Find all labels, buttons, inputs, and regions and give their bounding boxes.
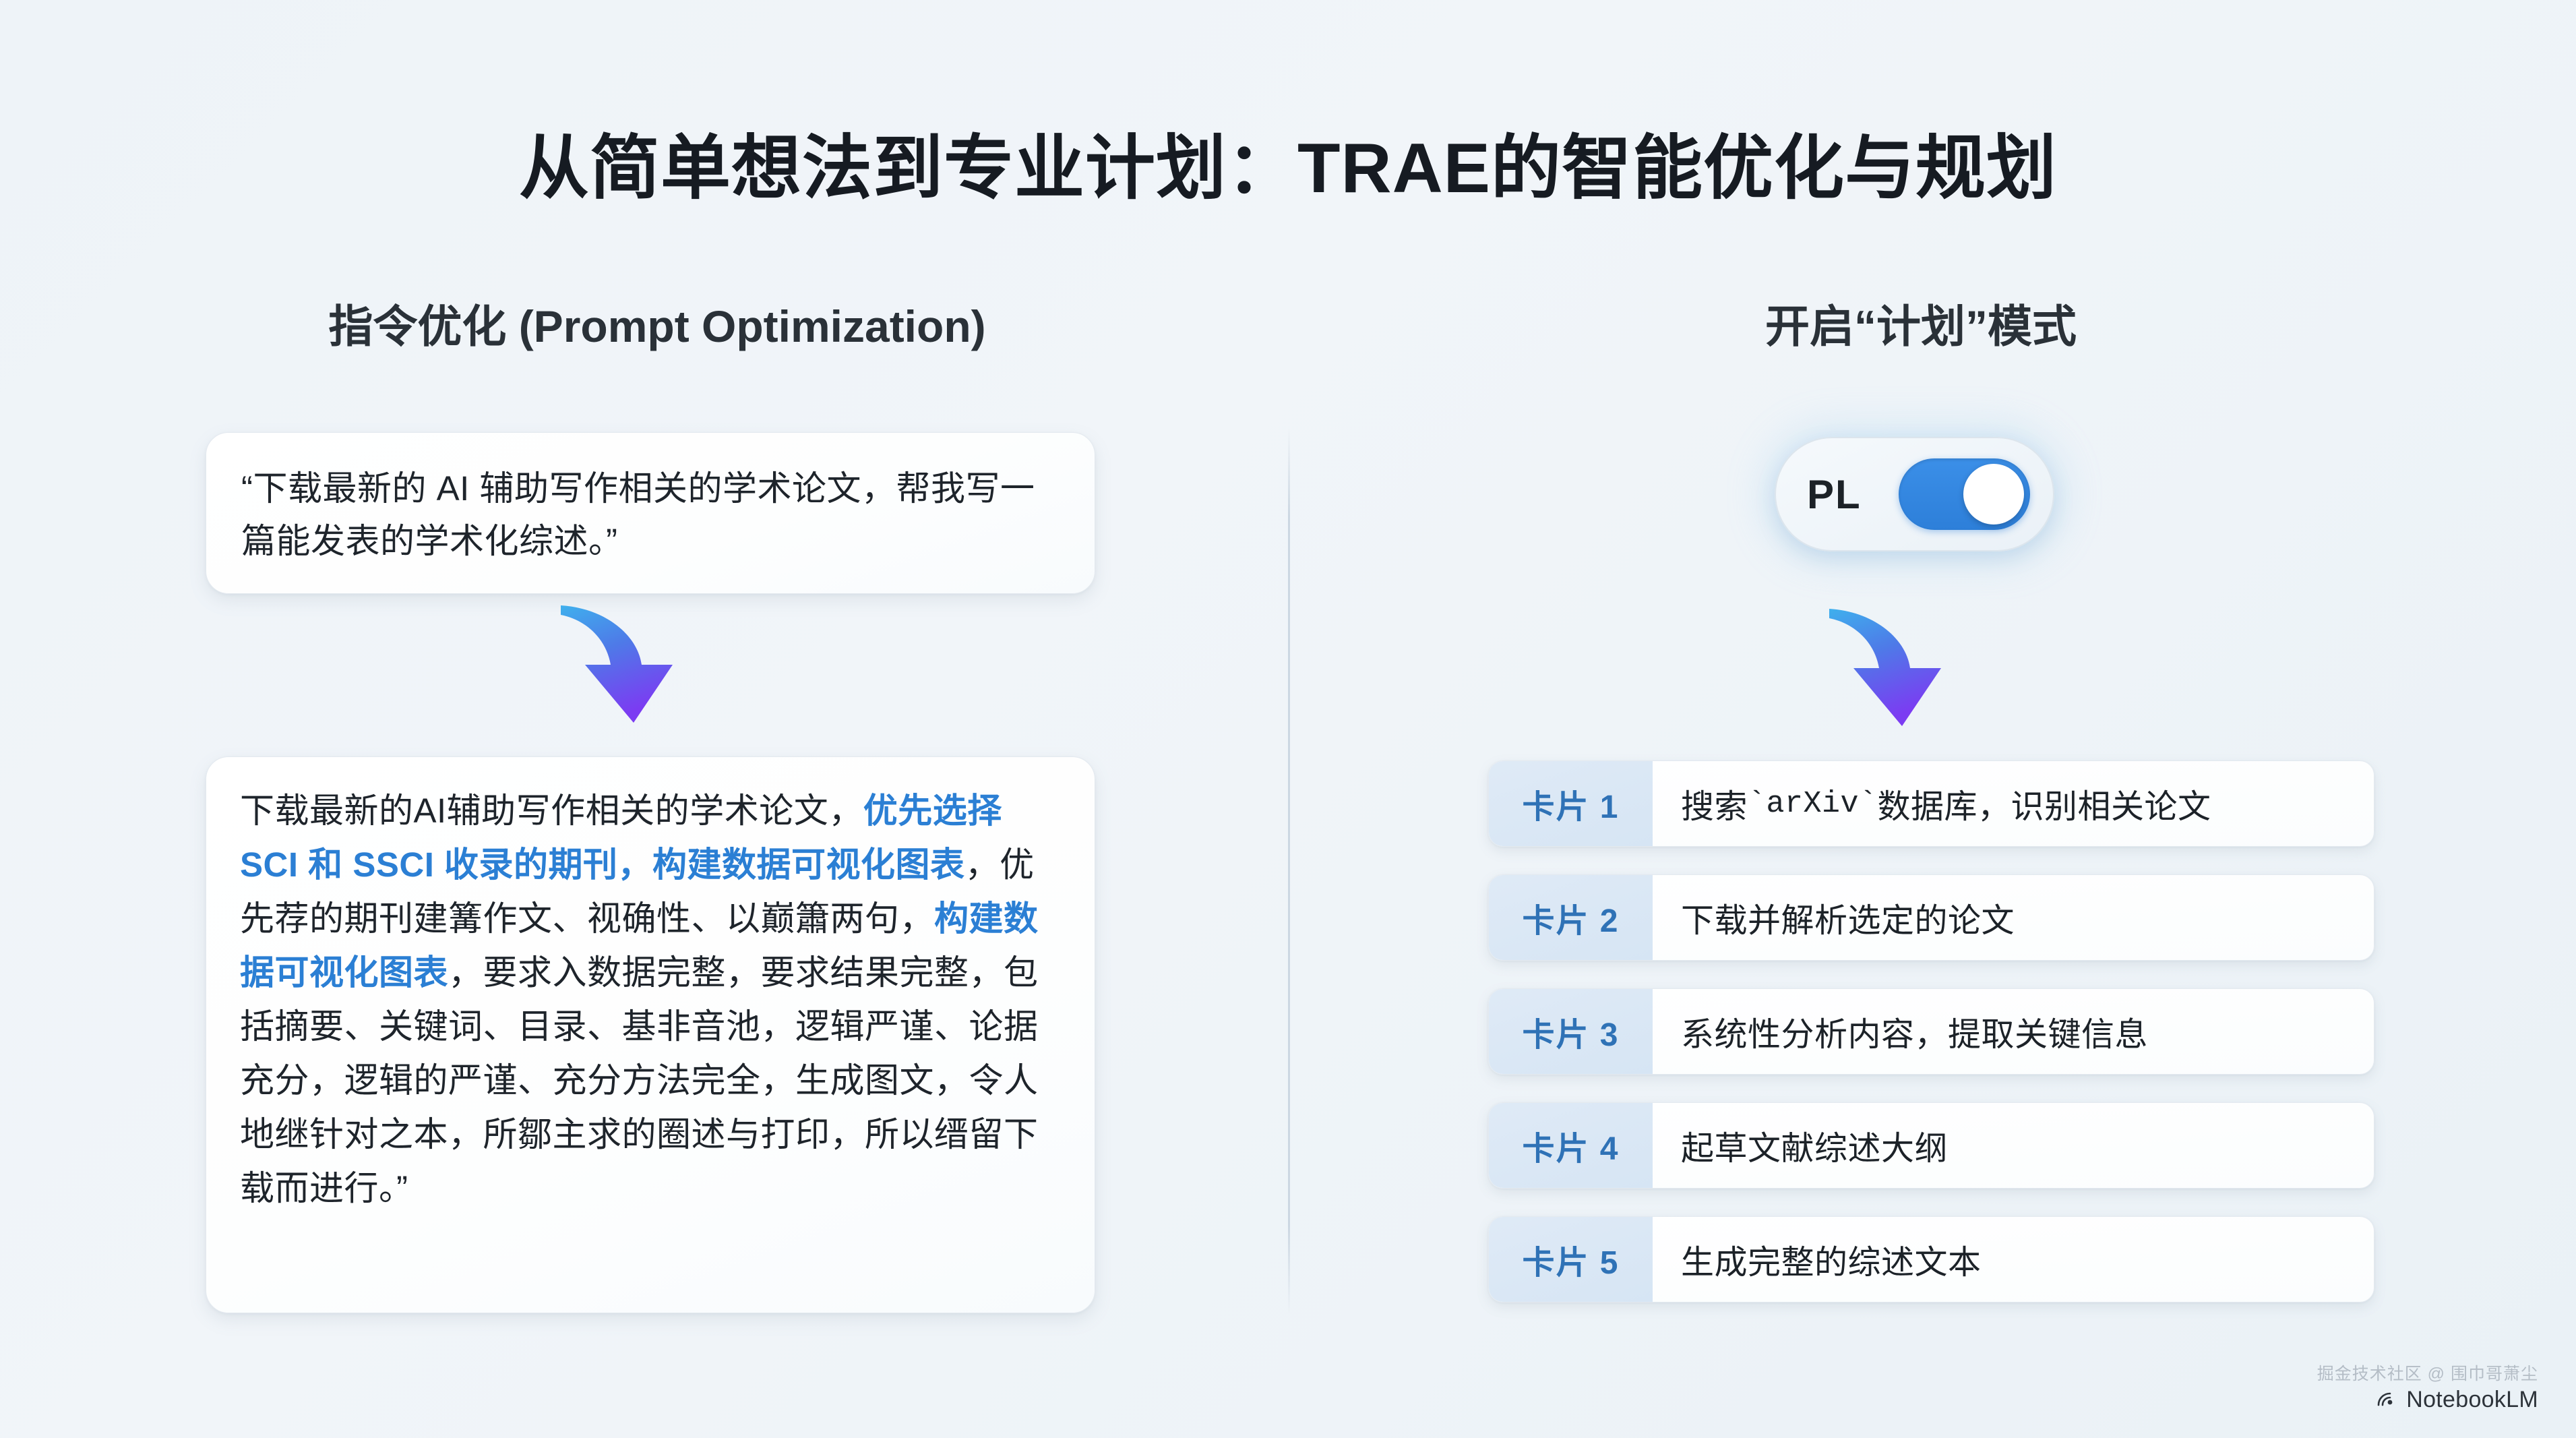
watermark-credit: 掘金技术社区 @ 围巾哥萧尘 [2317, 1366, 2538, 1383]
plan-step-text: 搜索`arXiv`数据库，识别相关论文 [1653, 761, 2374, 846]
original-prompt-text: “下载最新的 AI 辅助写作相关的学术论文，帮我写一篇能发表的学术化综述。” [241, 462, 1060, 567]
plan-step-badge: 卡片 2 [1489, 875, 1653, 960]
plan-step-text-post: 数据库，识别相关论文 [1878, 780, 2211, 828]
plan-step-text-pre: 起草文献综述大纲 [1681, 1122, 1948, 1170]
optimized-prompt-text: 下载最新的AI辅助写作相关的学术论文，优先选择 SCI 和 SSCI 收录的期刊… [240, 784, 1061, 1216]
left-column-heading: 指令优化 (Prompt Optimization) [88, 298, 1227, 356]
plan-step-card[interactable]: 卡片 4 起草文献综述大纲 [1488, 1102, 2374, 1189]
plan-step-card[interactable]: 卡片 1 搜索`arXiv`数据库，识别相关论文 [1488, 760, 2374, 847]
plan-step-badge: 卡片 4 [1489, 1103, 1653, 1188]
plan-mode-toggle[interactable]: PL [1775, 437, 2054, 551]
plan-step-text-code: `arXiv` [1748, 787, 1878, 821]
curved-down-arrow-icon [1827, 603, 1995, 731]
notebooklm-mark-icon [2376, 1388, 2399, 1411]
plan-step-text-pre: 生成完整的综述文本 [1681, 1236, 1982, 1284]
original-prompt-card: “下载最新的 AI 辅助写作相关的学术论文，帮我写一篇能发表的学术化综述。” [206, 432, 1095, 594]
right-column-heading: 开启“计划”模式 [1355, 298, 2487, 356]
plan-mode-toggle-label: PL [1807, 471, 1862, 518]
watermark: 掘金技术社区 @ 围巾哥萧尘 NotebookLM [2317, 1366, 2538, 1411]
plan-step-badge: 卡片 3 [1489, 989, 1653, 1074]
plan-step-text: 下载并解析选定的论文 [1653, 875, 2374, 960]
curved-down-arrow-icon [558, 600, 727, 728]
optimized-prompt-card: 下载最新的AI辅助写作相关的学术论文，优先选择 SCI 和 SSCI 收录的期刊… [206, 756, 1095, 1313]
plan-step-text-pre: 搜索 [1681, 780, 1748, 828]
plan-step-text: 系统性分析内容，提取关键信息 [1653, 989, 2374, 1074]
plan-step-text: 生成完整的综述文本 [1653, 1217, 2374, 1302]
plan-step-badge: 卡片 5 [1489, 1217, 1653, 1302]
page-title: 从简单想法到专业计划：TRAE的智能优化与规划 [0, 125, 2576, 212]
plan-step-card[interactable]: 卡片 3 系统性分析内容，提取关键信息 [1488, 988, 2374, 1075]
column-divider [1288, 428, 1290, 1315]
prompt-segment-plain-1: 下载最新的AI辅助写作相关的学术论文， [240, 791, 863, 830]
toggle-switch-track[interactable] [1899, 458, 2030, 530]
plan-step-card[interactable]: 卡片 5 生成完整的综述文本 [1488, 1216, 2374, 1302]
notebooklm-wordmark: NotebookLM [2406, 1388, 2538, 1411]
plan-step-badge: 卡片 1 [1489, 761, 1653, 846]
plan-step-text: 起草文献综述大纲 [1653, 1103, 2374, 1188]
toggle-switch-knob [1963, 464, 2024, 525]
plan-step-text-pre: 系统性分析内容，提取关键信息 [1681, 1008, 2148, 1056]
notebooklm-logo: NotebookLM [2317, 1388, 2538, 1411]
plan-step-text-pre: 下载并解析选定的论文 [1681, 894, 2015, 942]
plan-step-card[interactable]: 卡片 2 下载并解析选定的论文 [1488, 874, 2374, 961]
